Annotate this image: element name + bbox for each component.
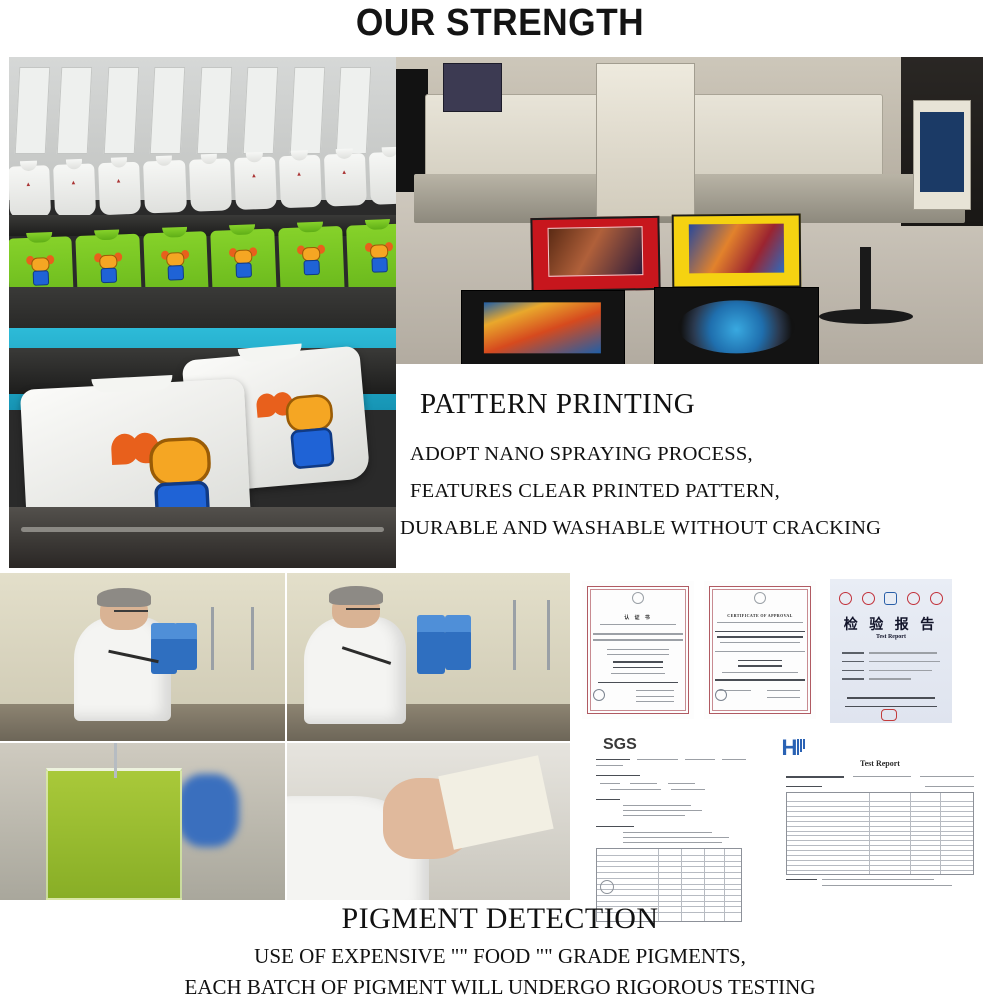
lab-mixer-motor [151,623,177,638]
report-title-en: Test Report [830,634,952,640]
white-tshirt [189,158,232,212]
photo-green-pigment-beaker [0,743,285,900]
eyeglasses [346,608,380,610]
pattern-printing-line-2: FEATURES CLEAR PRINTED PATTERN, [400,480,1000,503]
hanging-paper [57,67,93,154]
photo-chemist-sampling-pigment [0,573,285,741]
control-screen [920,112,964,192]
pigment-detection-line-2: EACH BATCH OF PIGMENT WILL UNDERGO RIGOR… [0,975,1000,1000]
h-report-title: Test Report [768,759,992,768]
monitor-stand-base [819,309,913,324]
bull-mascot-icon [298,246,325,277]
red-print-plate [530,216,660,292]
black-tshirt-sharks [654,287,818,364]
white-tshirt: ▲ [53,164,96,218]
cma2-logo-icon [930,592,943,605]
bull-mascot-icon [27,257,54,288]
certificate-stamp [715,689,727,701]
h-results-table [786,792,974,875]
poster-page: OUR STRENGTH ▲ ▲ ▲ ▲ ▲ ▲ [0,0,1000,1000]
eyeglasses [114,610,148,612]
blue-equipment-blur [177,774,240,846]
photo-screen-printing-line: ▲ ▲ ▲ ▲ ▲ ▲ [9,57,396,568]
pattern-printing-heading: PATTERN PRINTING [400,388,1000,421]
hanging-paper [336,67,372,154]
lab-coat [304,617,406,725]
sgs-test-report: SGS [586,733,756,893]
h-logo-bars-icon [797,739,805,755]
hanging-paper [150,67,186,154]
lab-mixer [151,637,177,674]
report-title-cn: 检 验 报 告 [830,614,952,634]
bull-mascot-icon [366,244,393,275]
machine-base [9,507,396,568]
page-title: OUR STRENGTH [35,2,965,45]
white-tshirt: ▲ [279,155,322,209]
control-tablet [443,63,502,112]
sgs-stamp [600,880,614,894]
chemist-hair [329,586,383,604]
white-tshirt [369,151,396,205]
cqc-logo-icon [839,592,852,605]
cma-logo-icon [862,592,875,605]
h-logo: H [781,735,797,761]
hanging-paper [103,67,139,154]
lab-mixer-motor [174,623,197,638]
black-tshirt-junior-company [461,290,625,364]
certificate-title-en: CERTIFICATE OF APPROVAL [704,613,816,618]
white-tshirt [144,160,187,214]
lab-mixer [174,637,197,671]
photo-hand-holding-test-paper [287,743,570,900]
clamp-stand [547,600,550,671]
emblem-seal-icon [754,592,766,604]
pattern-printing-line-3: DURABLE AND WASHABLE WITHOUT CRACKING [400,517,1000,540]
print-head-carriage [596,63,696,217]
cal-logo-icon [907,592,920,605]
monitor-stand-pole [860,247,872,315]
official-red-stamp [881,709,897,721]
pigment-detection-heading: PIGMENT DETECTION [0,902,1000,936]
yellow-print-plate [672,213,802,288]
certificates-collage: 认 证 书 CERTIFICATE OF APPROVAL [578,573,1000,900]
white-tshirt: ▲ [324,153,367,207]
pigment-detection-line-1: USE OF EXPENSIVE "" FOOD "" GRADE PIGMEN… [0,944,1000,969]
cnas-logo-icon [884,592,897,605]
certificate-title-cn: 认 证 书 [582,614,694,621]
white-tshirt: ▲ [234,157,277,211]
clamp-stand [211,607,214,671]
bull-mascot-icon [162,252,189,283]
lab-mixer-motor [445,615,470,632]
bull-mascot-icon [230,249,257,280]
stirrer-rod [114,743,117,778]
white-tshirt: ▲ [9,165,51,219]
inspection-test-report: 检 验 报 告 Test Report [830,579,952,723]
bull-mascot-icon [95,254,122,285]
photo-uv-flatbed-printer [396,57,983,364]
accreditation-logos [839,592,944,605]
metal-rail [21,527,385,532]
hanging-paper [196,67,232,154]
white-tshirt-row: ▲ ▲ ▲ ▲ ▲ ▲ [9,151,396,218]
lab-mixer-motor [417,615,445,632]
lab-mixer [445,630,470,670]
clamp-stand [513,600,516,671]
hanging-paper [243,67,279,154]
chemist-hair [97,588,151,606]
emblem-seal-icon [632,592,644,604]
hanging-paper [14,67,50,154]
white-tshirt: ▲ [98,162,141,216]
hanging-paper [289,67,325,154]
certificate-stamp [593,689,605,701]
certificate-of-approval-cn: 认 证 书 [582,581,694,719]
certificate-of-approval-en: CERTIFICATE OF APPROVAL [704,581,816,719]
pigment-detection-text-block: PIGMENT DETECTION USE OF EXPENSIVE "" FO… [0,902,1000,1000]
photo-chemist-at-bench [287,573,570,741]
pattern-printing-text-block: PATTERN PRINTING ADOPT NANO SPRAYING PRO… [400,388,1000,540]
glass-beaker [46,768,183,900]
clamp-stand [251,607,254,671]
pattern-printing-line-1: ADOPT NANO SPRAYING PROCESS, [400,443,1000,466]
sgs-logo: SGS [603,736,637,754]
h-test-report: H Test Report [768,733,992,893]
lab-mixer [417,630,445,674]
